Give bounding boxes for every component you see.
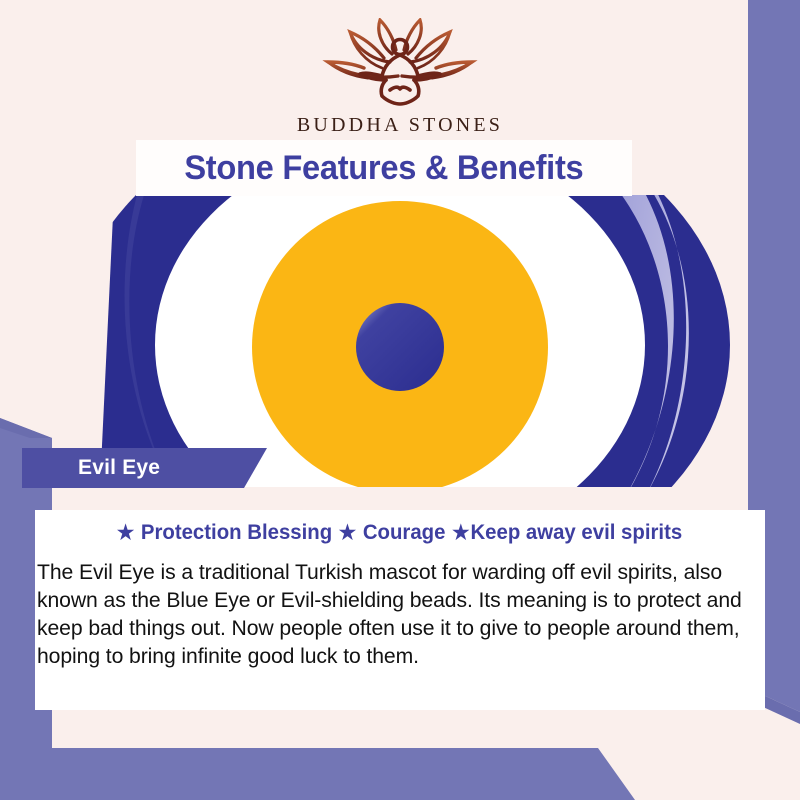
infographic-page: BUDDHA STONES Stone Features & Benefits	[0, 0, 800, 800]
content-panel: ★ Protection Blessing ★ Courage ★Keep aw…	[35, 510, 765, 710]
benefit-item-0: Protection Blessing	[141, 521, 332, 544]
hero-image	[0, 195, 800, 487]
title-banner: Stone Features & Benefits	[136, 140, 632, 196]
benefits-list: ★ Protection Blessing ★ Courage ★Keep aw…	[46, 520, 754, 545]
stone-name-label: Evil Eye	[78, 448, 160, 488]
star-icon: ★	[339, 522, 356, 544]
benefit-item-1: Courage	[363, 521, 446, 544]
eye-pupil	[356, 303, 444, 391]
page-title: Stone Features & Benefits	[184, 149, 583, 188]
star-icon: ★	[117, 522, 134, 544]
star-icon: ★	[452, 522, 469, 544]
stone-name-tag: Evil Eye	[22, 448, 267, 488]
brand-name: BUDDHA STONES	[0, 114, 800, 137]
evil-eye-bead-graphic	[0, 195, 800, 487]
brand-logo: BUDDHA STONES	[0, 18, 800, 137]
frame-bottom-bar	[0, 748, 635, 800]
stone-description: The Evil Eye is a traditional Turkish ma…	[37, 558, 752, 670]
lotus-meditation-icon	[320, 18, 480, 110]
benefit-item-2: Keep away evil spirits	[470, 521, 682, 544]
